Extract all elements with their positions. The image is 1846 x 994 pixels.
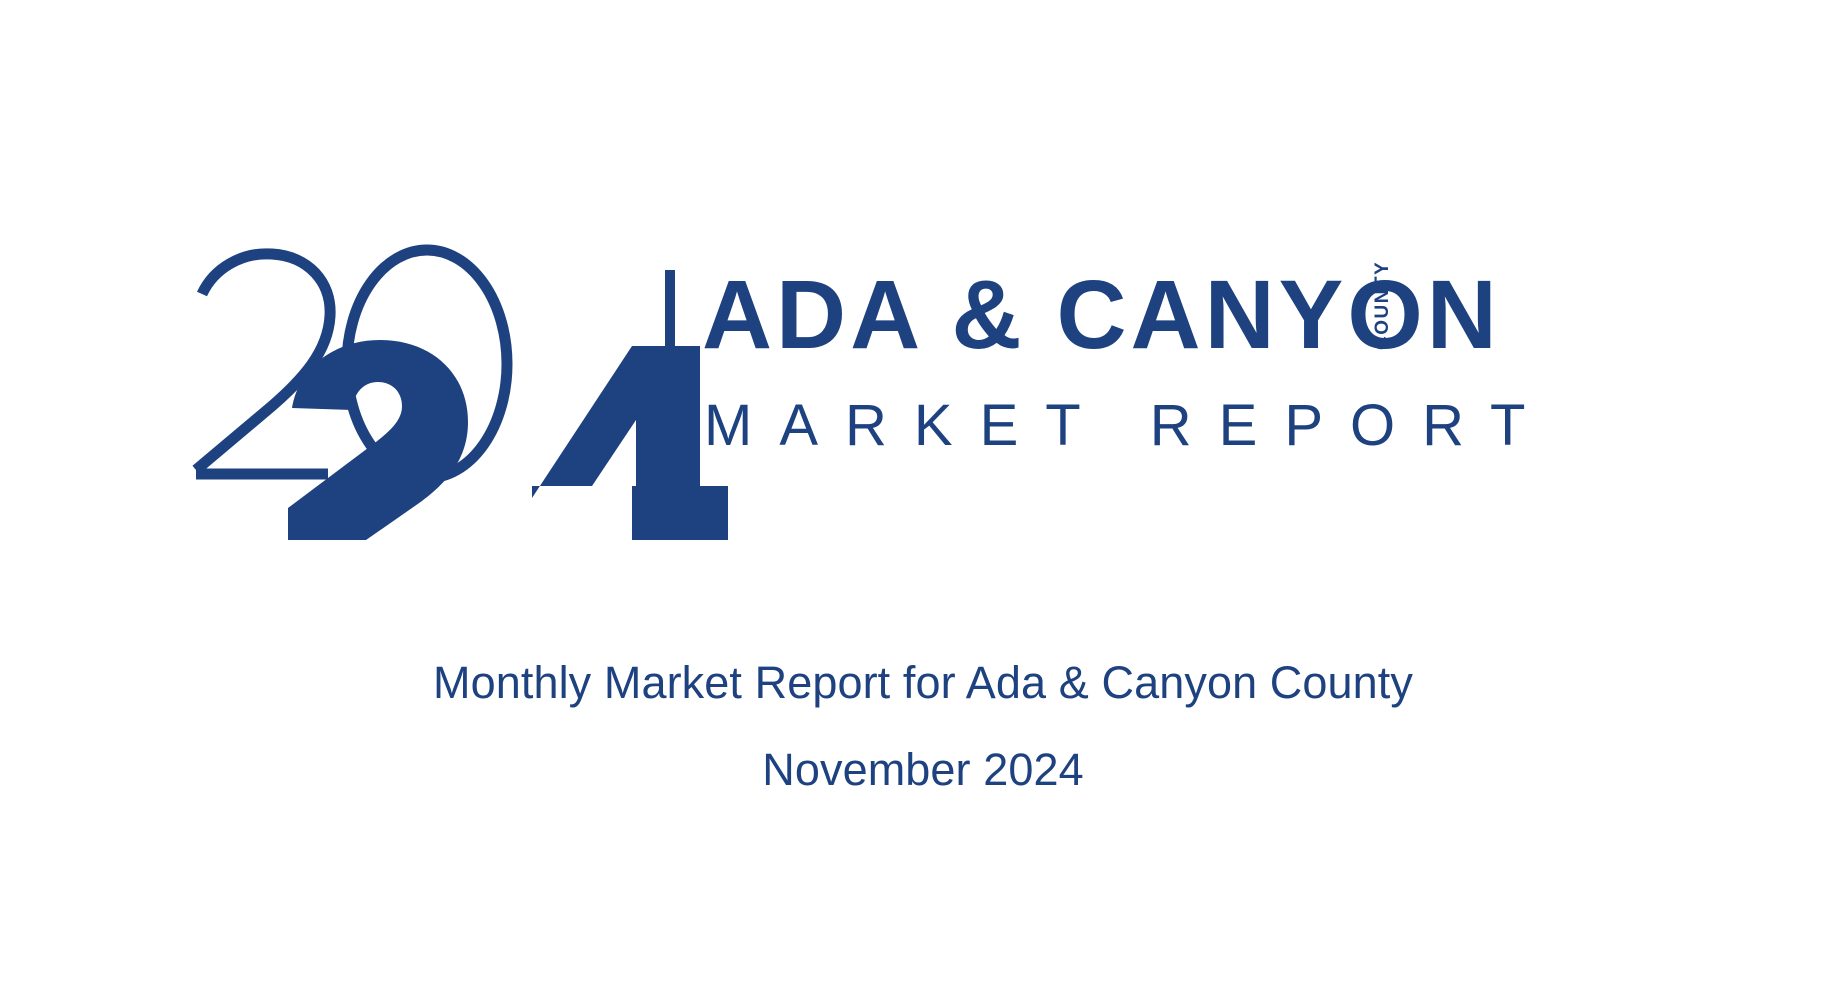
subtitle-primary: Monthly Market Report for Ada & Canyon C… bbox=[0, 660, 1846, 705]
subtitle-block: Monthly Market Report for Ada & Canyon C… bbox=[0, 660, 1846, 792]
report-logo: ADA & CANYON COUNTY MARKET REPORT bbox=[180, 240, 1700, 540]
logo-artwork: ADA & CANYON COUNTY MARKET REPORT bbox=[180, 240, 1700, 540]
logo-brand-qualifier: COUNTY bbox=[1372, 261, 1393, 350]
title-slide: ADA & CANYON COUNTY MARKET REPORT Monthl… bbox=[0, 0, 1846, 994]
logo-brand-line-2: MARKET REPORT bbox=[704, 393, 1552, 458]
subtitle-secondary: November 2024 bbox=[0, 747, 1846, 792]
logo-divider-rule bbox=[665, 270, 675, 540]
